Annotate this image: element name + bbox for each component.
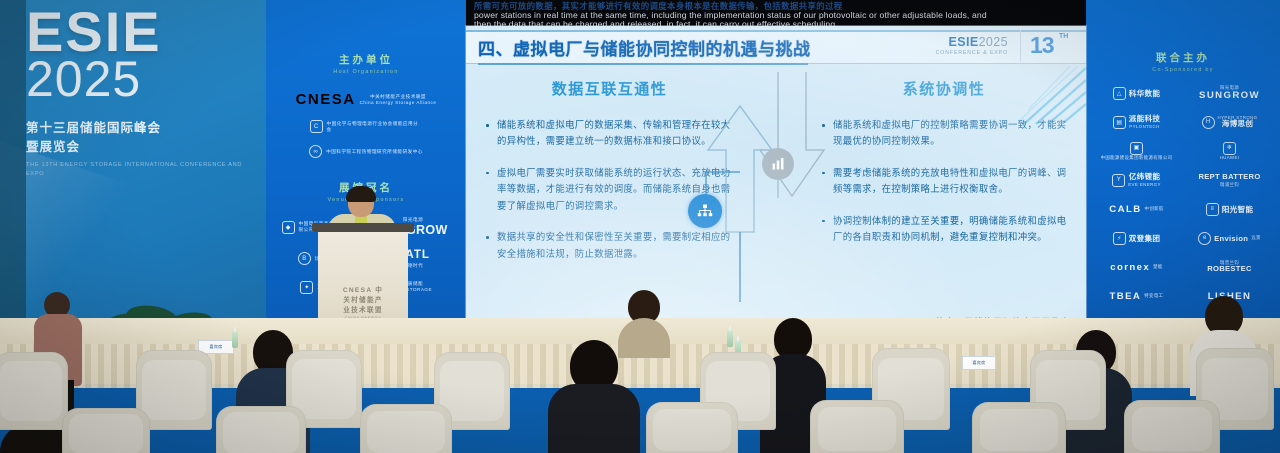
cosponsor-sub-12: 楚能: [1153, 264, 1163, 270]
bar-chart-icon: [762, 148, 794, 180]
podium-plate-cn: CNESA 中关村储能产业技术联盟: [341, 284, 386, 314]
cosponsor-sub-8: 中创新航: [1145, 206, 1164, 212]
shoto-icon: ⚡: [1113, 232, 1126, 245]
cnesa-wordmark: CNESA: [296, 91, 356, 108]
cee-group-icon: ◆: [282, 221, 295, 234]
host-logo-2: C 中国化学与物理电源行业协会储能应用分会: [272, 120, 460, 133]
cosponsor-logo-5: ❄HUAWEI: [1185, 141, 1274, 161]
cosponsor-logo-7: REPT BATTERO瑞浦兰钧: [1185, 170, 1274, 190]
slide-center-graphic: [680, 72, 830, 302]
byd-icon: B: [298, 252, 311, 265]
kehua-icon: △: [1113, 87, 1126, 100]
podium-top: [312, 223, 414, 232]
conference-photo-scene: ESIE 2025 第十三届储能国际峰会 暨展览会 THE 13TH ENERG…: [0, 0, 1280, 453]
envision-icon: e: [1198, 232, 1211, 245]
banner-en-line: THE 13TH ENERGY STORAGE INTERNATIONAL CO…: [26, 161, 246, 178]
water-bottle: [727, 330, 733, 347]
cosponsor-name-2: 派能科技: [1129, 115, 1161, 124]
slide-brand-year: 2025: [979, 35, 1008, 49]
chair: [62, 408, 150, 453]
cosponsor-logo-2: ▤派能科技PYLONTECH: [1092, 112, 1181, 132]
chair: [646, 402, 738, 453]
subtitle-caption-bar: 所需可充可放的数据，其实才能够进行有效的调度本身根本是在数据传输，包括数据共享的…: [466, 0, 1086, 26]
banner-cn-line2: 暨展览会: [26, 136, 246, 155]
slide-esie-logo: ESIE2025 CONFERENCE & EXPO: [936, 36, 1008, 56]
chair: [1124, 400, 1220, 453]
column-right-bullets: 储能系统和虚拟电厂的控制策略需要协调一致，才能实现最优的协同控制效果。 需要考虑…: [818, 117, 1070, 246]
co-sponsor-block: 联合主办 Co-Sponsored by △科华数能 阳光电源SUNGROW ▤…: [1092, 50, 1274, 306]
cosponsor-heading: 联合主办 Co-Sponsored by: [1092, 50, 1274, 73]
host-heading: 主办单位 Host Organization: [272, 52, 460, 75]
chair: [810, 400, 904, 453]
cosponsor-heading-en: Co-Sponsored by: [1092, 67, 1274, 73]
host-logo-3: ∞ 中国科学院工程热物理研究所储能研发中心: [272, 145, 460, 158]
cosponsor-heading-cn: 联合主办: [1092, 50, 1274, 65]
cosponsor-sub-14: 特变电工: [1144, 293, 1163, 299]
cosponsor-logo-0: △科华数能: [1092, 83, 1181, 103]
chair: [360, 404, 452, 453]
edition-badge: 13 TH: [1020, 30, 1072, 62]
eve-y-icon: Y: [1112, 174, 1125, 187]
edition-number: 13: [1030, 32, 1054, 59]
cosponsor-name-9: 阳光智能: [1222, 204, 1254, 215]
network-hierarchy-icon: [688, 194, 722, 228]
host-logo-3-cn: 中国科学院工程热物理研究所储能研发中心: [326, 149, 423, 155]
seat-sign: 嘉宾席: [962, 356, 996, 370]
hyperstrong-icon: H: [1202, 116, 1215, 129]
banner-year: 2025: [26, 56, 246, 104]
chair: [972, 402, 1066, 453]
arrow-diagram: [680, 72, 830, 302]
cnesa-badge-icon: C: [310, 120, 323, 133]
cosponsor-name-6: 亿纬锂能: [1129, 173, 1161, 182]
attendee-seated: [548, 340, 640, 453]
cosponsor-logo-6: Y亿纬锂能EVE ENERGY: [1092, 170, 1181, 190]
slide-brand-main: ESIE: [948, 35, 978, 49]
cosponsor-name-13: ROBESTEC: [1207, 265, 1252, 274]
chair: [216, 406, 306, 453]
host-logo-2-cn: 中国化学与物理电源行业协会储能应用分会: [327, 121, 423, 133]
huawei-petal-icon: ❄: [1223, 142, 1236, 155]
cosponsor-name-0: 科华数能: [1129, 88, 1161, 99]
cosponsor-logo-12: cornex楚能: [1092, 257, 1181, 277]
cosponsor-logo-grid: △科华数能 阳光电源SUNGROW ▤派能科技PYLONTECH HHYPER …: [1092, 83, 1274, 306]
sunlight-icon: ≡: [1206, 203, 1219, 216]
cosponsor-logo-4: ▣中国能源建设集团新能源有限公司: [1092, 141, 1181, 161]
cosponsor-logo-11: eEnvision远景: [1185, 228, 1274, 248]
cnesa-en: China Energy Storage Alliance: [360, 100, 437, 106]
list-item: 协调控制体制的建立至关重要，明确储能系统和虚拟电厂的各自职责和协同机制，避免重复…: [818, 213, 1070, 246]
cosponsor-logo-14: TBEA特变电工: [1092, 286, 1181, 306]
list-item: 储能系统和虚拟电厂的控制策略需要协调一致，才能实现最优的协同控制效果。: [818, 117, 1070, 150]
slide-title-underline: [478, 63, 808, 65]
host-heading-en: Host Organization: [272, 69, 460, 75]
host-logo-cnesa: CNESA 中关村储能产业技术联盟 China Energy Storage A…: [272, 91, 460, 108]
cosponsor-name-14: TBEA: [1110, 291, 1142, 302]
energy-china-icon: ▣: [1130, 142, 1143, 155]
cosponsor-name-5: HUAWEI: [1220, 155, 1240, 160]
cosponsor-name-12: cornex: [1110, 262, 1150, 273]
slide-title: 四、虚拟电厂与储能协同控制的机遇与挑战: [478, 35, 811, 60]
seat-sign-label: 嘉宾席: [963, 360, 995, 366]
cosponsor-logo-13: 瑞普兰钧ROBESTEC: [1185, 257, 1274, 277]
cosponsor-name-10: 双登集团: [1129, 233, 1161, 244]
cosponsor-sub-2: PYLONTECH: [1129, 124, 1159, 129]
pylontech-icon: ▤: [1113, 116, 1126, 129]
chair: [0, 352, 68, 430]
cosponsor-name-4: 中国能源建设集团新能源有限公司: [1101, 155, 1173, 160]
projected-slide: 四、虚拟电厂与储能协同控制的机遇与挑战 ESIE2025 CONFERENCE …: [466, 26, 1086, 336]
cosponsor-logo-8: CALB中创新航: [1092, 199, 1181, 219]
cosponsor-name-7: REPT BATTERO: [1198, 173, 1260, 182]
cosponsor-name-8: CALB: [1109, 204, 1141, 215]
cosponsor-sub-6: EVE ENERGY: [1128, 182, 1161, 187]
slide-brand-sub: CONFERENCE & EXPO: [936, 51, 1008, 56]
cosponsor-name-3: 海博思创: [1222, 120, 1254, 129]
institute-swirl-icon: ∞: [309, 145, 322, 158]
cosponsor-name-11: Envision: [1214, 234, 1248, 243]
cosponsor-name-1: SUNGROW: [1199, 90, 1260, 101]
person-shoulders: [548, 384, 640, 453]
list-item: 需要考虑储能系统的充放电特性和虚拟电厂的调峰、调频等需求，在控制策略上进行权衡取…: [818, 165, 1070, 198]
seat-sign-label: 嘉宾席: [199, 344, 233, 350]
cosponsor-sub-11: 远景: [1251, 235, 1261, 241]
speaker-hair: [346, 186, 376, 202]
banner-cn-line1: 第十三届储能国际峰会: [26, 117, 246, 136]
cosponsor-logo-1: 阳光电源SUNGROW: [1185, 83, 1274, 103]
cosponsor-sub-7: 瑞浦兰钧: [1220, 182, 1239, 187]
banner-logo-text: ESIE: [26, 6, 246, 58]
edition-suffix: TH: [1059, 33, 1068, 40]
column-right-heading: 系统协调性: [818, 78, 1070, 99]
cosponsor-logo-10: ⚡双登集团: [1092, 228, 1181, 248]
chint-icon: ✦: [300, 281, 313, 294]
slide-column-right: 系统协调性 储能系统和虚拟电厂的控制策略需要协调一致，才能实现最优的协同控制效果…: [818, 78, 1070, 261]
host-heading-cn: 主办单位: [272, 52, 460, 67]
cosponsor-logo-3: HHYPER STRONG海博思创: [1185, 112, 1274, 132]
esie-banner: ESIE 2025 第十三届储能国际峰会 暨展览会 THE 13TH ENERG…: [26, 6, 246, 178]
left-wall-edge: [0, 0, 26, 330]
cosponsor-logo-9: ≡阳光智能: [1185, 199, 1274, 219]
